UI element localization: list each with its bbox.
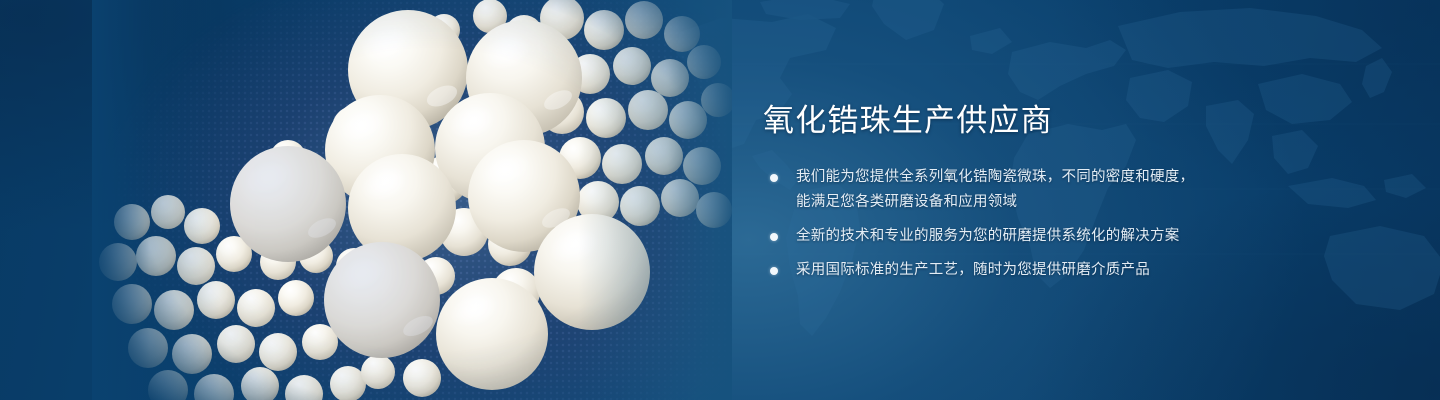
- bullet-dot-icon: [770, 267, 778, 275]
- bullet-dot-icon: [770, 174, 778, 182]
- list-item: 全新的技术和专业的服务为您的研磨提供系统化的解决方案: [763, 224, 1343, 249]
- bead-cluster-illustration: [92, 0, 732, 400]
- hero-banner: 氧化锆珠生产供应商 我们能为您提供全系列氧化锆陶瓷微珠，不同的密度和硬度， 能满…: [0, 0, 1440, 400]
- feature-bullet-list: 我们能为您提供全系列氧化锆陶瓷微珠，不同的密度和硬度， 能满足您各类研磨设备和应…: [763, 165, 1343, 283]
- bullet-text-line: 我们能为您提供全系列氧化锆陶瓷微珠，不同的密度和硬度，: [796, 165, 1343, 190]
- page-title: 氧化锆珠生产供应商: [763, 104, 1343, 139]
- bullet-text-line: 全新的技术和专业的服务为您的研磨提供系统化的解决方案: [796, 224, 1343, 249]
- list-item: 我们能为您提供全系列氧化锆陶瓷微珠，不同的密度和硬度， 能满足您各类研磨设备和应…: [763, 165, 1343, 215]
- banner-content: 氧化锆珠生产供应商 我们能为您提供全系列氧化锆陶瓷微珠，不同的密度和硬度， 能满…: [763, 104, 1343, 283]
- zirconia-beads-photo: [92, 0, 732, 400]
- bullet-dot-icon: [770, 233, 778, 241]
- bullet-text-line: 能满足您各类研磨设备和应用领域: [796, 190, 1343, 215]
- list-item: 采用国际标准的生产工艺，随时为您提供研磨介质产品: [763, 258, 1343, 283]
- bullet-text-line: 采用国际标准的生产工艺，随时为您提供研磨介质产品: [796, 258, 1343, 283]
